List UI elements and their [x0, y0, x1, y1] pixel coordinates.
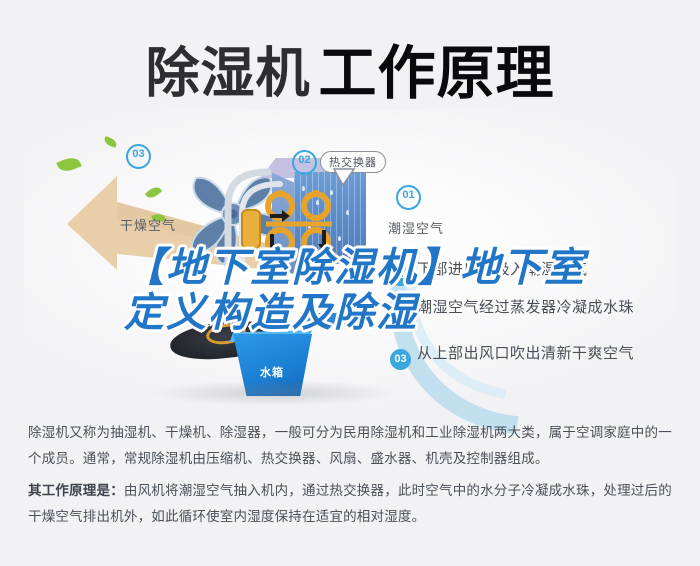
badge-01-illustration: 01 [396, 185, 421, 210]
title-part-primary: 除湿机 [145, 44, 310, 104]
badge-03-illustration: 03 [126, 144, 151, 169]
page-title: 除湿机工作原理 [0, 26, 700, 110]
caption-text-03: 从上部出风口吹出清新干爽空气 [417, 345, 634, 362]
caption-line-03: 03从上部出风口吹出清新干爽空气 [390, 342, 634, 366]
title-part-secondary: 工作原理 [318, 41, 554, 106]
caption-badge-03: 03 [390, 349, 411, 370]
water-tank-label: 水箱 [260, 364, 284, 380]
overlay-headline: 【地下室除湿机】地下室 定义构造及除湿 [124, 246, 644, 336]
infographic-page: 除湿机工作原理 [0, 0, 700, 566]
body-paragraph-2-rest: 由风机将潮湿空气抽入机内，通过热交换器，此时空气中的水分子冷凝成水珠，处理过后的… [28, 483, 672, 524]
overlay-headline-line-1: 【地下室除湿机】地下室 [124, 246, 644, 291]
label-dry-air: 干燥空气 [120, 215, 176, 234]
body-paragraph-1: 除湿机又称为抽湿机、干燥机、除湿器，一般可分为民用除湿机和工业除湿机两大类，属于… [28, 420, 676, 472]
callout-tail-icon [332, 168, 356, 186]
overlay-headline-line-2: 定义构造及除湿 [124, 291, 644, 336]
ground-shadow [150, 380, 400, 406]
body-paragraph-2: 其工作原理是：由风机将潮湿空气抽入机内，通过热交换器，此时空气中的水分子冷凝成水… [28, 478, 676, 530]
body-paragraph-2-lead: 其工作原理是： [28, 483, 124, 498]
label-humid-air: 潮湿空气 [388, 218, 444, 237]
badge-02-illustration: 02 [292, 150, 317, 175]
